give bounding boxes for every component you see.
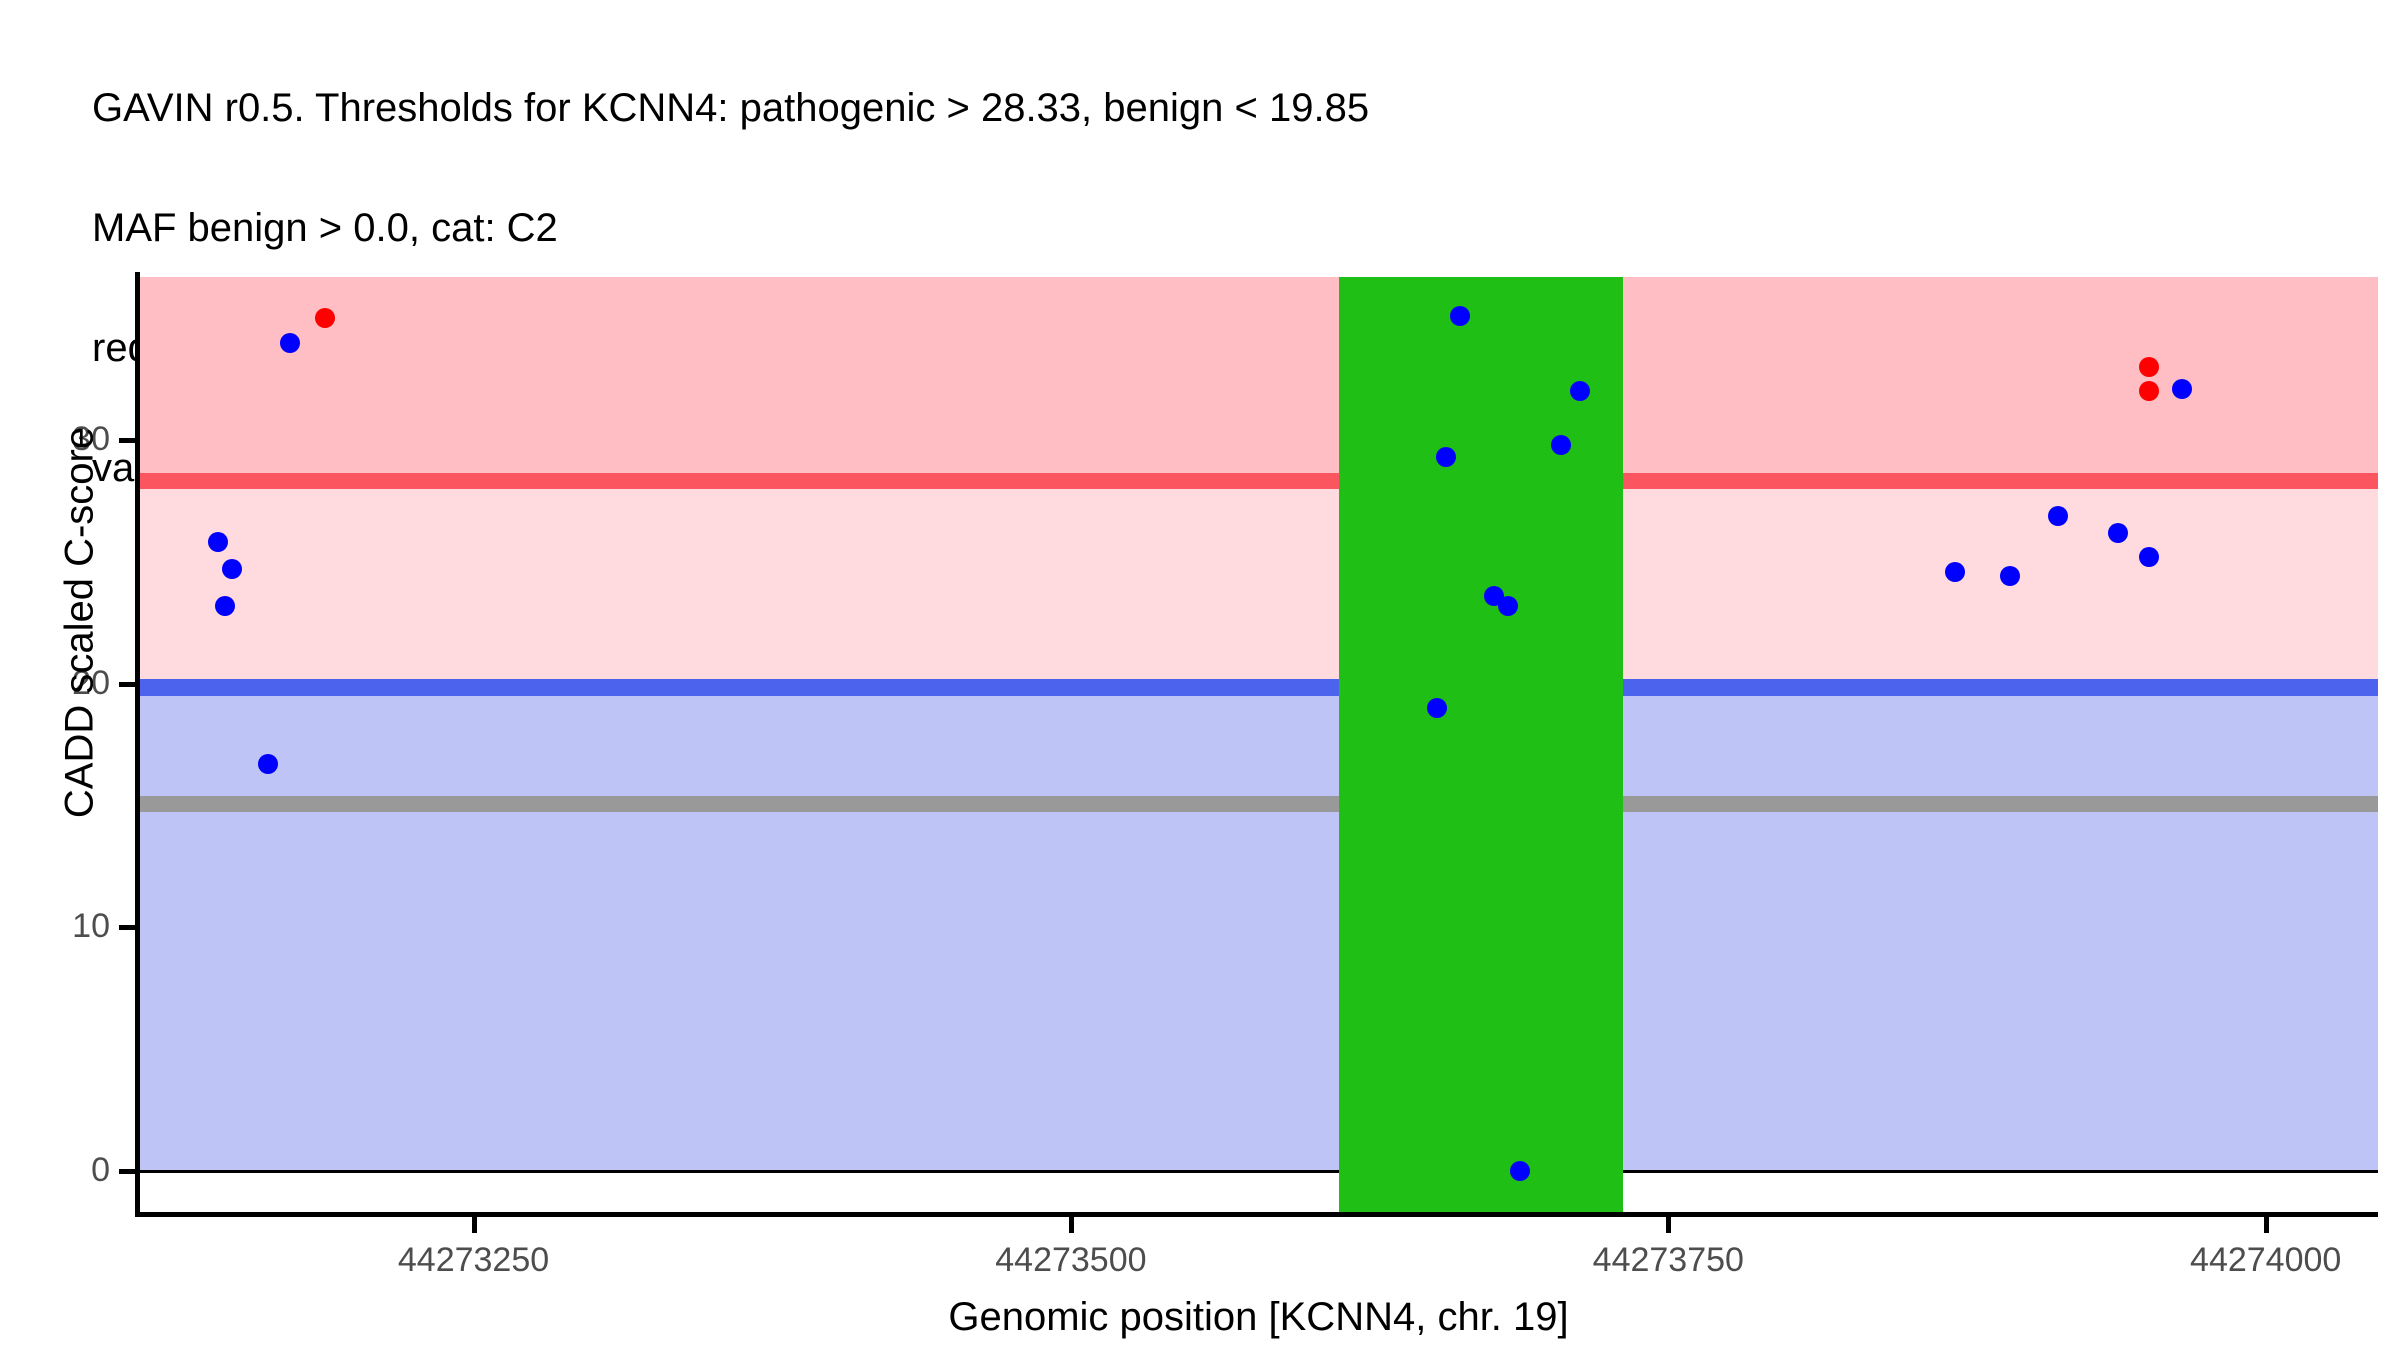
x-tick-label: 44273750: [1518, 1240, 1818, 1280]
gnomad-variant-point[interactable]: [1427, 698, 1447, 718]
band-genome-wide-fallback-line: [139, 796, 2378, 813]
band-pathogenic-zone: [139, 277, 2378, 481]
zero-baseline-rule: [139, 1170, 2378, 1173]
gnomad-variant-point[interactable]: [1498, 596, 1518, 616]
y-axis-line: [135, 272, 140, 1217]
clinvar-pathogenic-point[interactable]: [2139, 357, 2159, 377]
band-vous-zone: [139, 489, 2378, 687]
gnomad-variant-point[interactable]: [1945, 562, 1965, 582]
y-tick-mark: [119, 682, 135, 687]
refseq-exon-block: [1339, 277, 1623, 1212]
y-tick-mark: [119, 1169, 135, 1174]
x-tick-mark: [472, 1217, 477, 1233]
x-tick-mark: [2264, 1217, 2269, 1233]
gnomad-variant-point[interactable]: [2172, 379, 2192, 399]
gnomad-variant-point[interactable]: [2139, 547, 2159, 567]
gnomad-variant-point[interactable]: [280, 333, 300, 353]
gnomad-variant-point[interactable]: [2108, 523, 2128, 543]
x-tick-label: 44273500: [921, 1240, 1221, 1280]
gnomad-variant-point[interactable]: [2048, 506, 2068, 526]
band-pathogenic-threshold-line: [139, 473, 2378, 490]
gnomad-variant-point[interactable]: [215, 596, 235, 616]
clinvar-pathogenic-point[interactable]: [2139, 381, 2159, 401]
band-benign-threshold-line: [139, 679, 2378, 696]
x-tick-mark: [1069, 1217, 1074, 1233]
y-tick-label: 0: [0, 1153, 110, 1187]
band-benign-zone: [139, 696, 2378, 1171]
scatter-plot: 0102030 44273250442735004427375044274000…: [0, 0, 2400, 1350]
y-tick-mark: [119, 925, 135, 930]
gnomad-variant-point[interactable]: [1551, 435, 1571, 455]
y-tick-mark: [119, 438, 135, 443]
x-tick-mark: [1666, 1217, 1671, 1233]
gnomad-variant-point[interactable]: [258, 754, 278, 774]
gnomad-variant-point[interactable]: [1510, 1161, 1530, 1181]
plot-panel: [139, 277, 2378, 1212]
x-axis-title: Genomic position [KCNN4, chr. 19]: [139, 1295, 2378, 1340]
y-axis-title: CADD scaled C-score: [58, 243, 103, 1003]
x-tick-label: 44274000: [2116, 1240, 2400, 1280]
x-tick-label: 44273250: [324, 1240, 624, 1280]
